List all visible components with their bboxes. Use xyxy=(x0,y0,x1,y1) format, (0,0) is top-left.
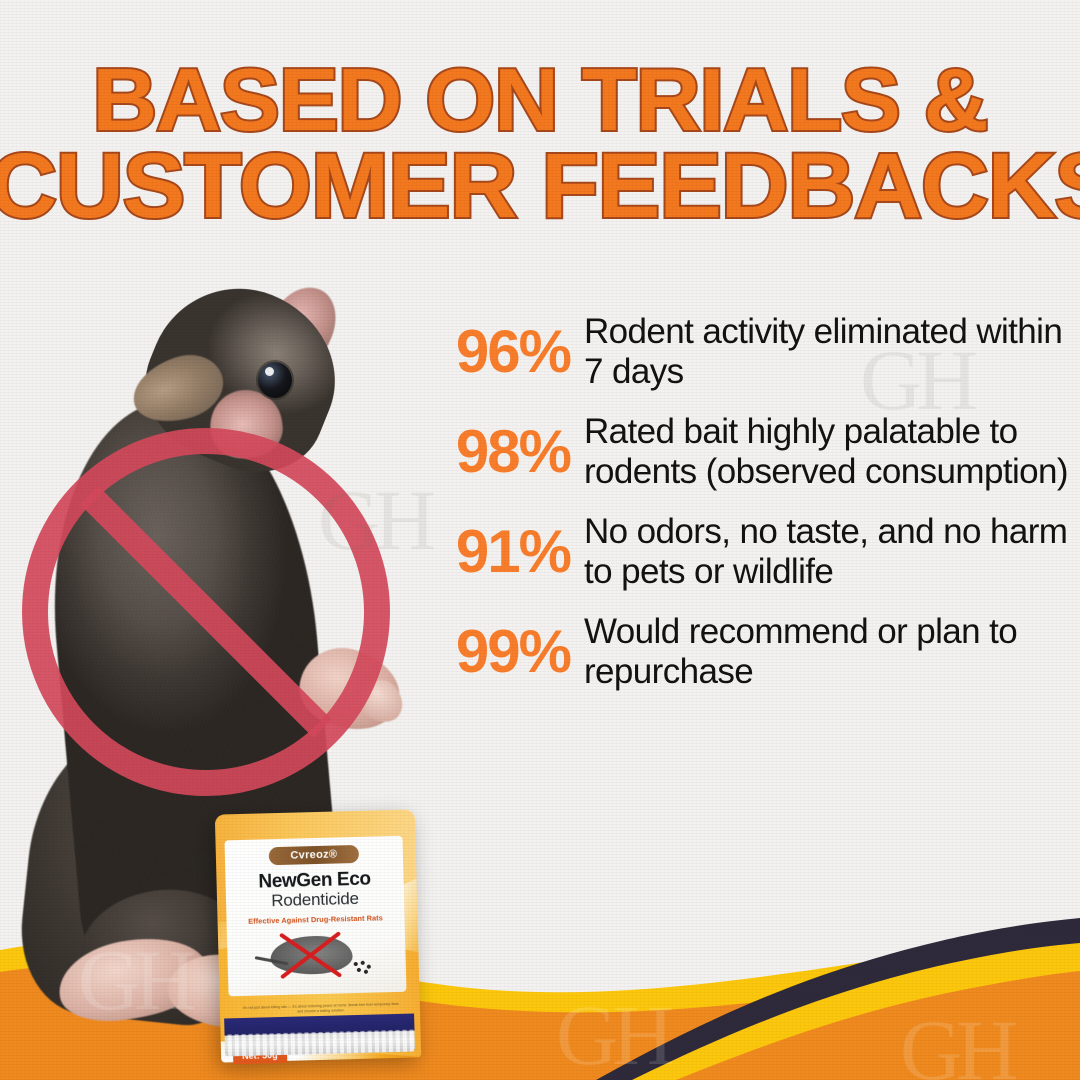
packet-product-category: Rodenticide xyxy=(226,888,404,913)
stat-percent: 96% xyxy=(432,322,584,382)
page-title: BASED ON TRIALS & CUSTOMER FEEDBACKS xyxy=(0,58,1080,230)
packet-brand-badge: Cvreoz® xyxy=(269,845,359,865)
bait-pellets-icon xyxy=(353,961,373,978)
stat-row: 99% Would recommend or plan to repurchas… xyxy=(432,612,1080,692)
stat-percent: 98% xyxy=(432,422,584,482)
packet-tagline: Effective Against Drug-Resistant Rats xyxy=(226,913,404,927)
stat-row: 96% Rodent activity eliminated within 7 … xyxy=(432,312,1080,392)
stat-description: Rodent activity eliminated within 7 days xyxy=(584,312,1080,392)
stat-description: Would recommend or plan to repurchase xyxy=(584,612,1080,692)
packet-label-panel: Cvreoz® NewGen Eco Rodenticide Effective… xyxy=(224,836,406,997)
crossed-out-rat-icon xyxy=(258,927,375,984)
stat-description: Rated bait highly palatable to rodents (… xyxy=(584,412,1080,492)
headline-line-1: BASED ON TRIALS & xyxy=(0,58,1080,142)
no-entry-sign-icon xyxy=(22,428,390,796)
stats-list: 96% Rodent activity eliminated within 7 … xyxy=(432,312,1080,714)
packet-bottom-seal xyxy=(224,1014,415,1057)
stat-description: No odors, no taste, and no harm to pets … xyxy=(584,512,1080,592)
stat-row: 98% Rated bait highly palatable to roden… xyxy=(432,412,1080,492)
poster-canvas: BASED ON TRIALS & CUSTOMER FEEDBACKS 96%… xyxy=(0,0,1080,1080)
headline-line-2: CUSTOMER FEEDBACKS xyxy=(0,142,1080,230)
product-packet: Cvreoz® NewGen Eco Rodenticide Effective… xyxy=(215,809,421,1062)
stat-row: 91% No odors, no taste, and no harm to p… xyxy=(432,512,1080,592)
rat-eye xyxy=(258,362,292,398)
stat-percent: 91% xyxy=(432,522,584,582)
stat-percent: 99% xyxy=(432,622,584,682)
